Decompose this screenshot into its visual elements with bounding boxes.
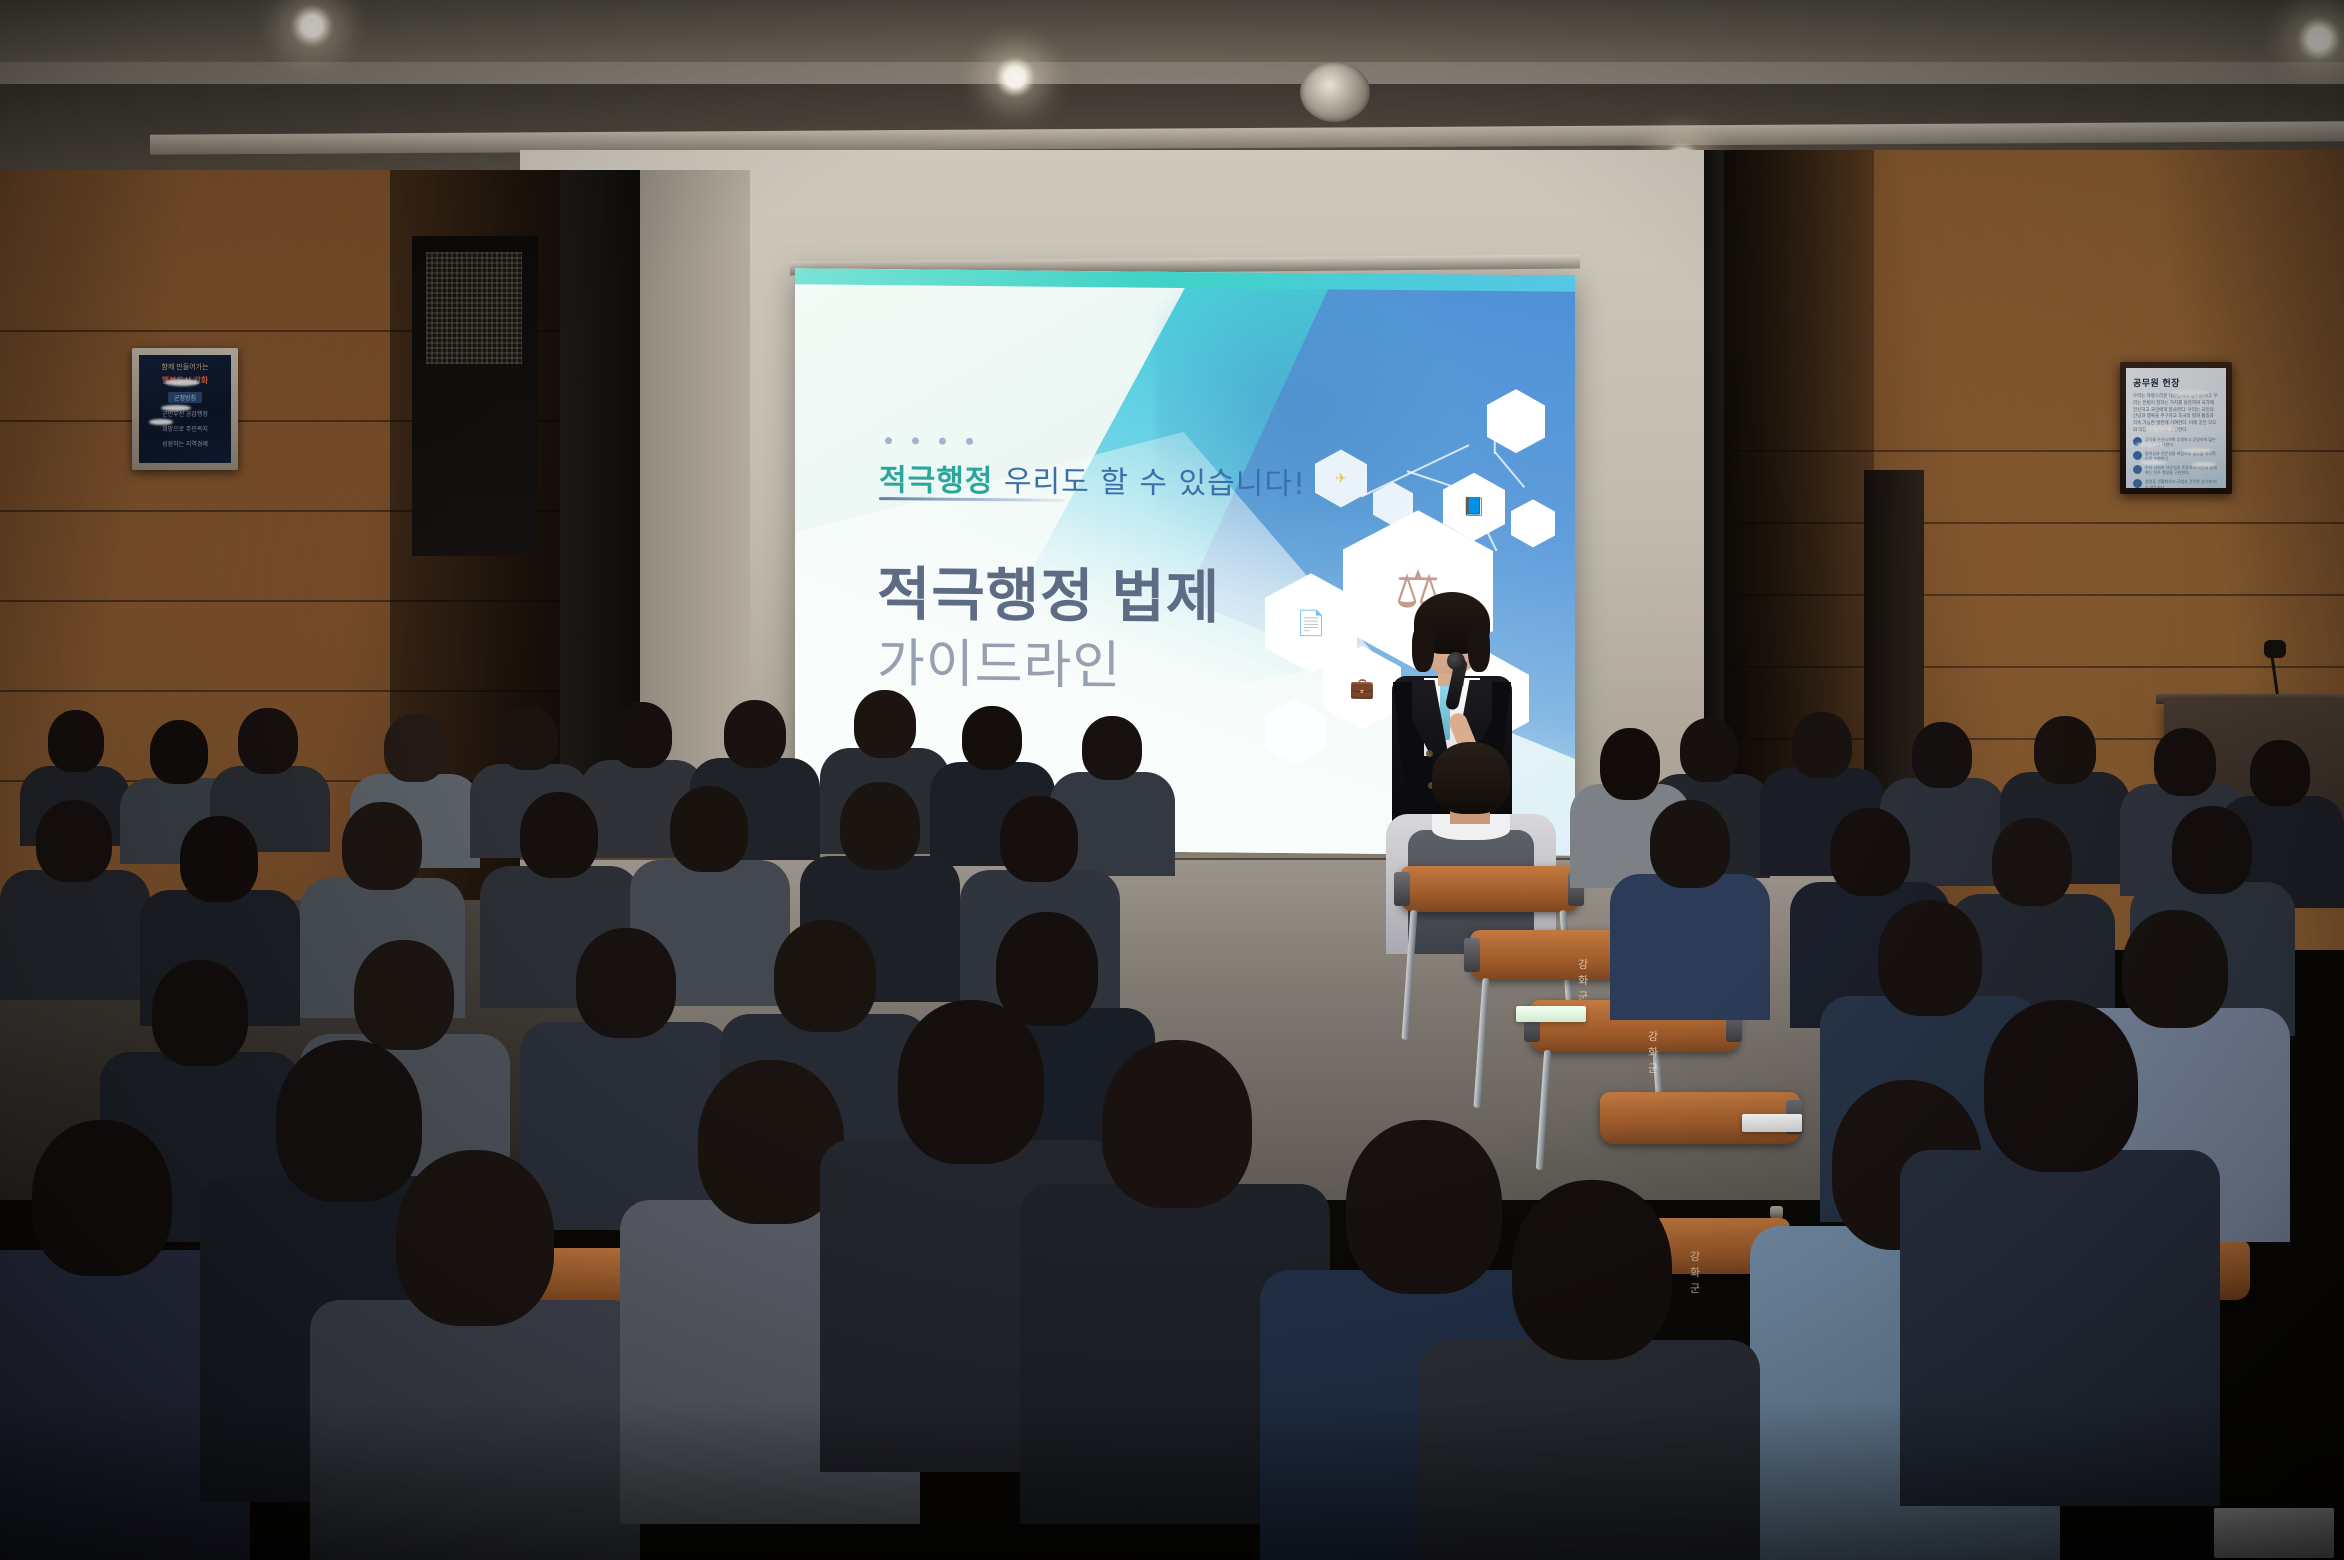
poster-left-item: 희망으로 주민복지 xyxy=(162,424,208,433)
audience-head xyxy=(396,1150,554,1326)
attendee-head xyxy=(1432,742,1510,814)
audience-head xyxy=(2250,740,2310,806)
audience-torso xyxy=(310,1300,640,1560)
handout-paper xyxy=(1516,1006,1586,1022)
audience-head xyxy=(48,710,104,772)
audience-head xyxy=(500,706,558,770)
charter-title: 공무원 헌장 xyxy=(2133,376,2219,389)
audience-torso xyxy=(1900,1150,2220,1506)
audience-head xyxy=(1984,1000,2138,1172)
slide-dot-icon xyxy=(885,437,892,444)
audience-head xyxy=(342,802,422,890)
audience-head xyxy=(576,928,676,1038)
audience-head xyxy=(150,720,208,784)
audience-member xyxy=(1610,800,1770,1020)
audience-head xyxy=(2154,728,2216,796)
audience-head xyxy=(1512,1180,1672,1360)
audience-head xyxy=(670,786,748,872)
audience-head xyxy=(32,1120,172,1276)
ceiling-downlight xyxy=(2294,16,2344,62)
audience-head xyxy=(854,690,916,758)
public-servant-charter-sheet: 공무원 헌장 우리는 자랑스러운 대한민국의 공무원이다. 우리는 헌법이 정하… xyxy=(2126,368,2226,488)
passport-book-icon: 📘 xyxy=(1463,496,1485,517)
audience-head xyxy=(1102,1040,1252,1208)
poster-left-item: 성장하는 지역경제 xyxy=(162,439,208,448)
ceiling-downlight xyxy=(992,56,1038,98)
seated-attendee-front xyxy=(1380,742,1560,942)
audience-head xyxy=(2172,806,2252,894)
briefcase-icon: 💼 xyxy=(1350,675,1375,700)
wall-poster-left-sheet: 함께 만들어가는 행복도시 강화 군정방침 군민우선 공감행정 희망으로 주민복… xyxy=(139,355,231,463)
presenter-hair-side xyxy=(1412,624,1434,672)
audience-head xyxy=(1792,712,1852,778)
document-icon: 📄 xyxy=(1296,609,1326,638)
audience-torso xyxy=(1610,874,1770,1020)
poster-left-heading: 함께 만들어가는 xyxy=(161,362,208,372)
audience-member xyxy=(1420,1180,1760,1560)
charter-bullet: 청렴을 생활화하고 규범과 건전한 상식에 따라 행동한다. xyxy=(2145,479,2219,488)
audience-member xyxy=(1900,1000,2220,1500)
microphone-head xyxy=(1447,652,1465,670)
ceiling-vent xyxy=(1300,62,1370,122)
audience-head xyxy=(238,708,298,774)
audience-head xyxy=(1600,728,1660,800)
chair-marking: 강화군 xyxy=(1648,1028,1659,1076)
slide-tagline-brand: 적극행정 xyxy=(879,463,993,499)
audience-head xyxy=(354,940,454,1050)
charter-bullet-row: 청렴을 생활화하고 규범과 건전한 상식에 따라 행동한다. xyxy=(2133,479,2219,488)
audience-head xyxy=(612,702,672,768)
bullet-dot-icon xyxy=(2133,465,2142,474)
bird-icon: ✈ xyxy=(1336,470,1347,486)
poster-left-chip: 군정방침 xyxy=(168,392,202,403)
audience-member xyxy=(310,1150,640,1560)
audience-torso xyxy=(1420,1340,1760,1560)
bullet-dot-icon xyxy=(2133,479,2142,488)
chair-marking: 강화군 xyxy=(1578,956,1589,1004)
audience-head xyxy=(520,792,598,878)
wall-speaker-grille xyxy=(426,252,522,364)
audience-head xyxy=(1830,808,1910,896)
audience-head xyxy=(724,700,786,768)
audience-head xyxy=(962,706,1022,770)
audience-head xyxy=(1082,716,1142,780)
slide-dot-row xyxy=(885,437,973,445)
slide-subtitle: 가이드라인 xyxy=(877,621,1121,698)
audience-head xyxy=(36,800,112,882)
gooseneck-microphone xyxy=(2264,640,2286,658)
audience-head xyxy=(840,782,920,870)
handout-paper xyxy=(2214,1508,2334,1558)
audience-head xyxy=(1878,900,1982,1016)
bullet-dot-icon xyxy=(2133,451,2142,460)
slide-dot-icon xyxy=(966,438,973,445)
wall-poster-left-frame: 함께 만들어가는 행복도시 강화 군정방침 군민우선 공감행정 희망으로 주민복… xyxy=(132,348,238,470)
audience-head xyxy=(1992,818,2072,906)
slide-dot-icon xyxy=(939,438,946,445)
slide-dot-icon xyxy=(912,437,919,444)
wall-poster-right-frame: 공무원 헌장 우리는 자랑스러운 대한민국의 공무원이다. 우리는 헌법이 정하… xyxy=(2120,362,2232,494)
audience-head xyxy=(384,714,446,782)
audience-head xyxy=(2034,716,2096,784)
audience-head xyxy=(1912,722,1972,788)
ceiling-downlight xyxy=(288,4,336,48)
auditorium-photo: 함께 만들어가는 행복도시 강화 군정방침 군민우선 공감행정 희망으로 주민복… xyxy=(0,0,2344,1560)
presenter-hair-side xyxy=(1468,624,1490,672)
audience-head xyxy=(180,816,258,902)
audience-head xyxy=(1650,800,1730,888)
audience-head xyxy=(1000,796,1078,882)
slide-tagline-rest: 우리도 할 수 있습니다! xyxy=(1004,464,1306,502)
